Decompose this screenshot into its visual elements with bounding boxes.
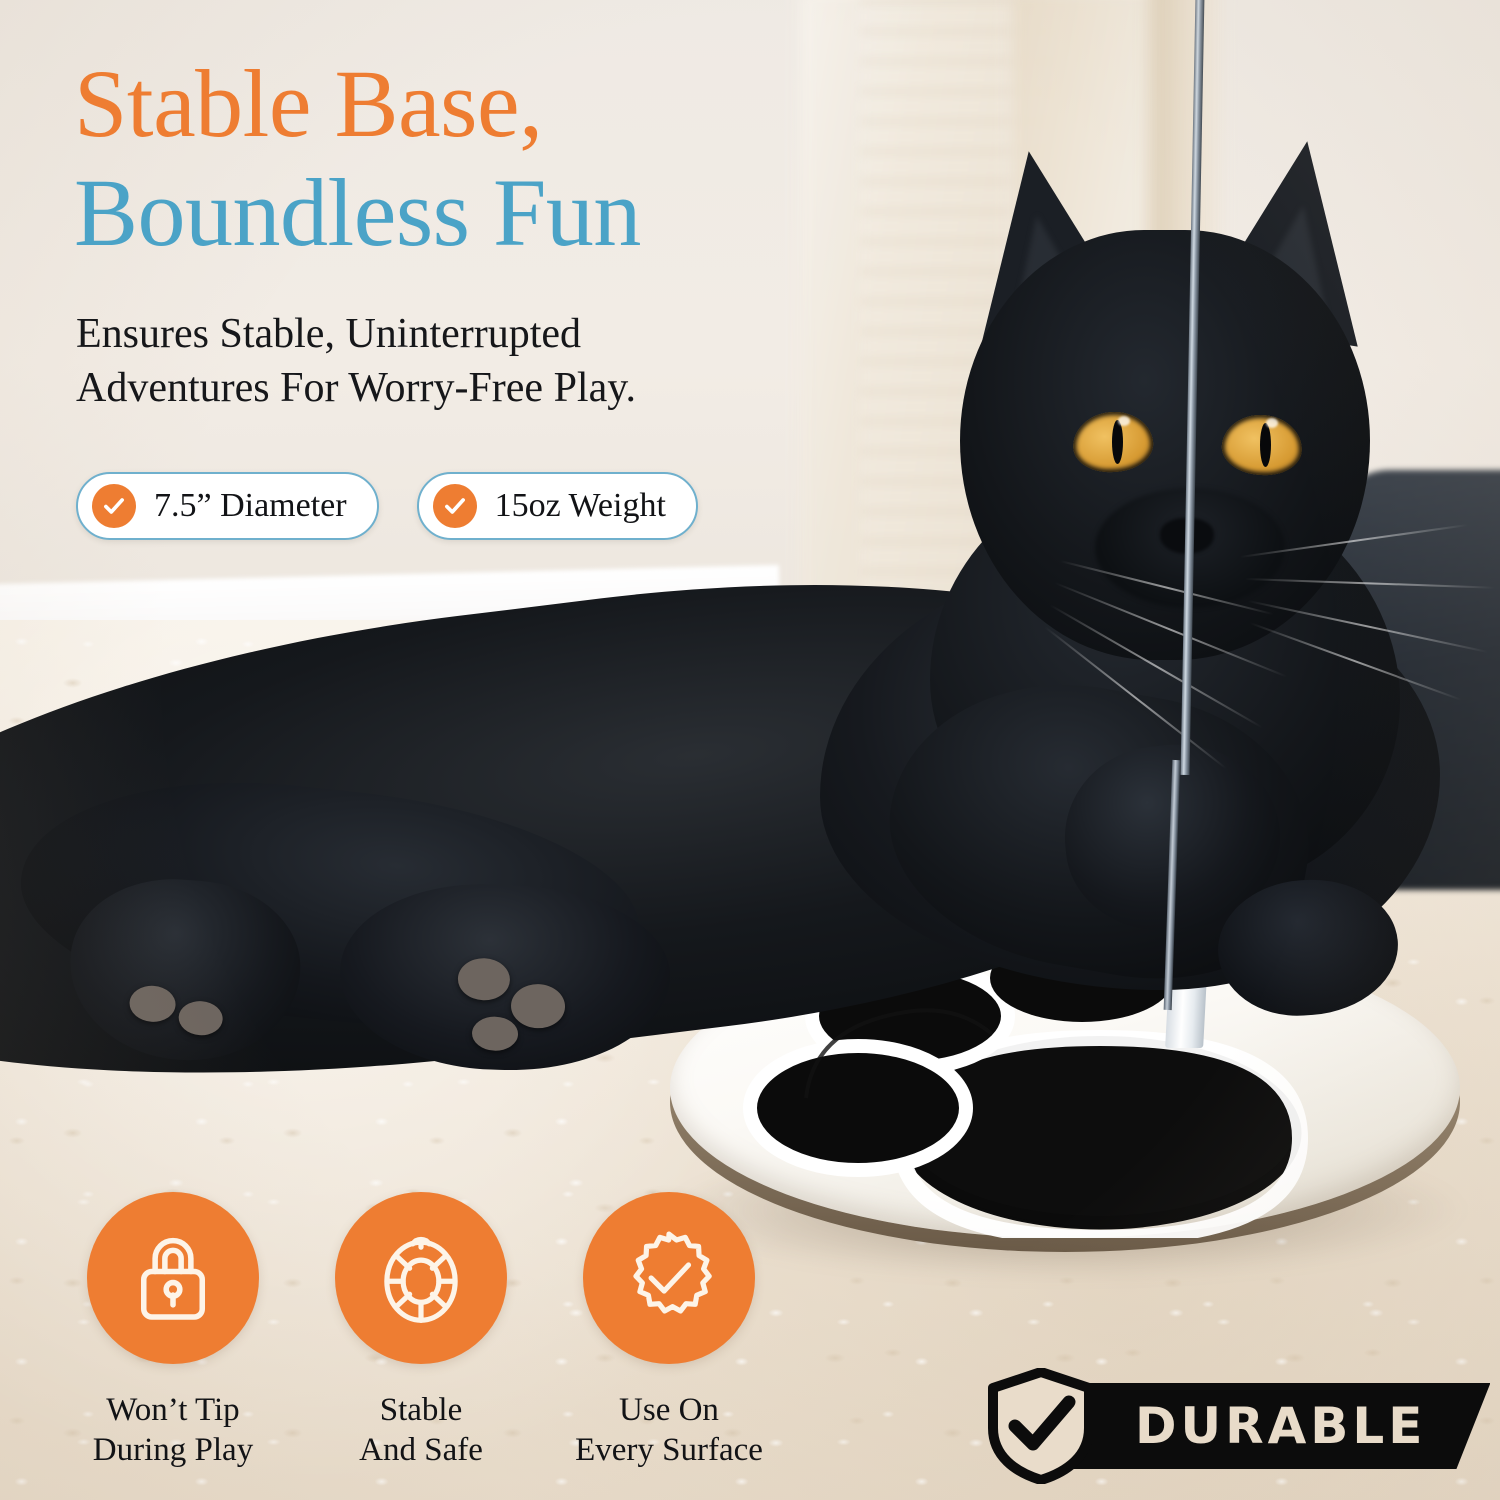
padlock-icon <box>121 1226 225 1330</box>
headline: Stable Base, Boundless Fun <box>74 58 641 258</box>
feature-icon-badge <box>335 1192 507 1364</box>
durable-badge: DURABLE <box>985 1368 1490 1484</box>
life-ring-icon <box>369 1226 473 1330</box>
feature-every-surface: Use On Every Surface <box>574 1192 764 1471</box>
durable-label: DURABLE <box>1135 1397 1426 1455</box>
spec-pill-label: 7.5” Diameter <box>154 487 347 525</box>
subheadline: Ensures Stable, Uninterrupted Adventures… <box>76 308 636 416</box>
feature-icon-badge <box>583 1192 755 1364</box>
feature-wont-tip: Won’t Tip During Play <box>78 1192 268 1471</box>
durable-banner: DURABLE <box>1063 1383 1490 1469</box>
feature-label: Won’t Tip During Play <box>93 1390 253 1471</box>
cat-eye-glint-left <box>1118 416 1130 426</box>
badge-check-icon <box>617 1226 721 1330</box>
feature-icon-badge <box>87 1192 259 1364</box>
cat-pupil-right <box>1260 423 1271 467</box>
headline-line-2: Boundless Fun <box>74 167 641 258</box>
check-circle-icon <box>433 484 477 528</box>
subheadline-line-1: Ensures Stable, Uninterrupted <box>76 308 636 362</box>
spec-pill-weight: 15oz Weight <box>417 472 698 540</box>
product-marketing-image: Stable Base, Boundless Fun Ensures Stabl… <box>0 0 1500 1500</box>
feature-label: Stable And Safe <box>359 1390 483 1471</box>
check-circle-icon <box>92 484 136 528</box>
cat-pupil-left <box>1112 420 1123 464</box>
cat-eye-glint-right <box>1266 418 1278 428</box>
feature-icon-row: Won’t Tip During Play Stable A <box>78 1192 764 1471</box>
marketing-text-panel: Stable Base, Boundless Fun Ensures Stabl… <box>0 0 940 600</box>
shield-check-icon <box>985 1368 1097 1484</box>
spec-pill-label: 15oz Weight <box>495 487 666 525</box>
spec-pill-diameter: 7.5” Diameter <box>76 472 379 540</box>
spec-pill-row: 7.5” Diameter 15oz Weight <box>76 472 698 540</box>
feature-stable-safe: Stable And Safe <box>326 1192 516 1471</box>
subheadline-line-2: Adventures For Worry-Free Play. <box>76 362 636 416</box>
headline-line-1: Stable Base, <box>74 58 641 149</box>
feature-label: Use On Every Surface <box>575 1390 763 1471</box>
